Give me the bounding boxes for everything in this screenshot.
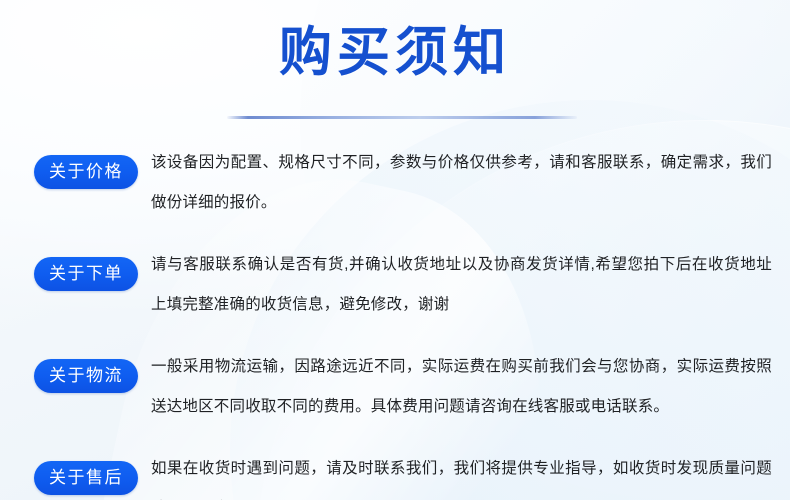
- section-badge-aftersales: 关于售后: [34, 461, 138, 495]
- section-badge-price: 关于价格: [34, 155, 138, 189]
- section-badge-logistics: 关于物流: [34, 359, 138, 393]
- notice-section-list: 关于价格 该设备因为配置、规格尺寸不同，参数与价格仅供参考，请和客服联系，确定需…: [0, 143, 790, 500]
- section-text-price: 该设备因为配置、规格尺寸不同，参数与价格仅供参考，请和客服联系，确定需求，我们做…: [151, 143, 772, 223]
- purchase-notice-card: 购买须知 关于价格 该设备因为配置、规格尺寸不同，参数与价格仅供参考，请和客服联…: [0, 0, 790, 500]
- notice-section-aftersales: 关于售后 如果在收货时遇到问题，请及时联系我们，我们将提供专业指导，如收货时发现…: [0, 449, 790, 500]
- page-title: 购买须知: [0, 22, 790, 84]
- section-badge-order: 关于下单: [34, 257, 138, 291]
- notice-section-order: 关于下单 请与客服联系确认是否有货,并确认收货地址以及协商发货详情,希望您拍下后…: [0, 245, 790, 325]
- notice-section-price: 关于价格 该设备因为配置、规格尺寸不同，参数与价格仅供参考，请和客服联系，确定需…: [0, 143, 790, 223]
- section-text-order: 请与客服联系确认是否有货,并确认收货地址以及协商发货详情,希望您拍下后在收货地址…: [151, 245, 772, 325]
- section-text-logistics: 一般采用物流运输，因路途远近不同，实际运费在购买前我们会与您协商，实际运费按照送…: [151, 347, 772, 427]
- section-text-aftersales: 如果在收货时遇到问题，请及时联系我们，我们将提供专业指导，如收货时发现质量问题请…: [151, 449, 772, 500]
- notice-section-logistics: 关于物流 一般采用物流运输，因路途远近不同，实际运费在购买前我们会与您协商，实际…: [0, 347, 790, 427]
- title-divider: [227, 116, 577, 119]
